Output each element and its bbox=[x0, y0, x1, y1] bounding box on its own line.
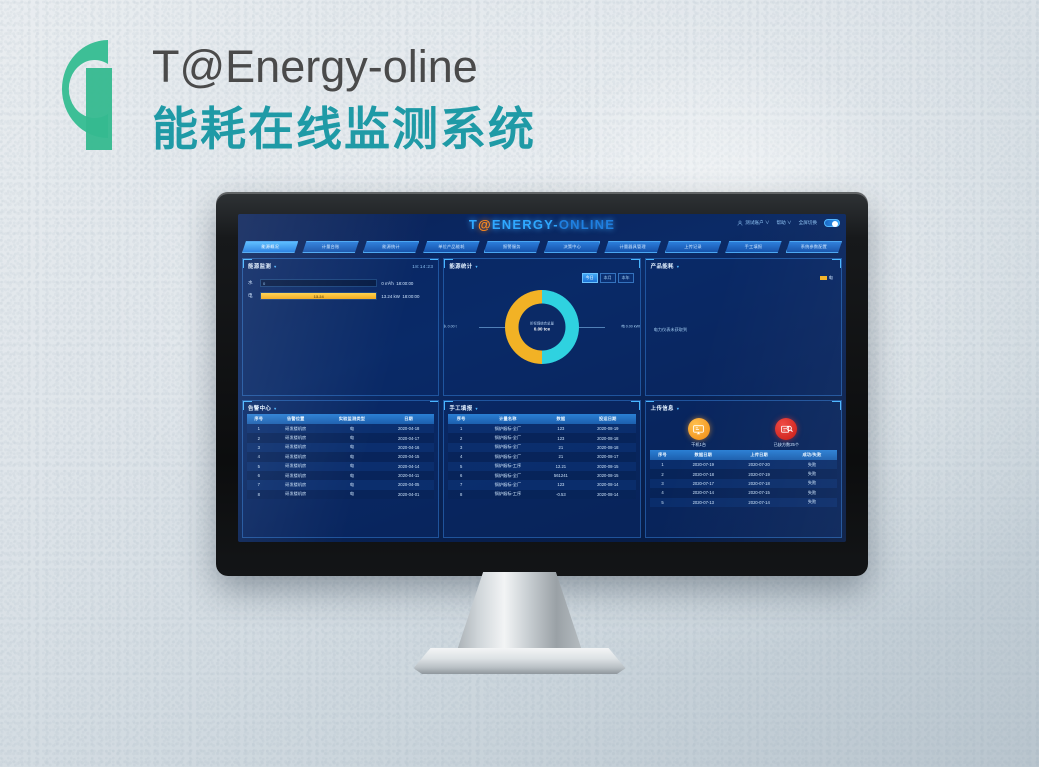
nav-item-3[interactable]: 单位产品能耗 bbox=[423, 241, 479, 253]
table-cell-3: 2020-08-14 bbox=[580, 480, 636, 489]
table-cell-3: 2020-04-17 bbox=[383, 433, 434, 442]
product-energy-header: 产品能耗 ▾ bbox=[646, 259, 841, 272]
table-cell-2: 561241 bbox=[542, 471, 580, 480]
table-cell-3: 2020-08-14 bbox=[580, 490, 636, 499]
table-cell-1: 2020-07-18 bbox=[675, 469, 731, 478]
table-cell-0: 1 bbox=[448, 424, 474, 433]
table-cell-0: 4 bbox=[448, 452, 474, 461]
donut-label-power: 电 0.00 kWh bbox=[621, 325, 640, 330]
table-cell-3: 2020-04-18 bbox=[383, 424, 434, 433]
table-cell-2: 电 bbox=[321, 462, 383, 471]
table-cell-3: 2020-04-15 bbox=[383, 452, 434, 461]
table-cell-2: 12.21 bbox=[542, 462, 580, 471]
legend-label-power: 电 bbox=[829, 275, 833, 281]
table-cell-0: 6 bbox=[448, 471, 474, 480]
nav-item-2[interactable]: 能源统计 bbox=[363, 241, 419, 253]
nav-item-6[interactable]: 计量器具管理 bbox=[604, 241, 660, 253]
table-cell-2: 电 bbox=[321, 443, 383, 452]
nav-item-8[interactable]: 手工填报 bbox=[725, 241, 781, 253]
table-row[interactable]: 7研发楼机房电2020-04-05 bbox=[247, 480, 434, 489]
upload-info-header: 上传信息 ▾ bbox=[646, 401, 841, 414]
monitor-icon bbox=[688, 418, 710, 440]
table-cell-2: 电 bbox=[321, 480, 383, 489]
col-index: 序号 bbox=[448, 414, 474, 424]
upload-info-tbody: 12020-07-192020-07-20失败22020-07-182020-0… bbox=[650, 460, 837, 507]
app-title-energy: ENERGY bbox=[492, 217, 553, 232]
donut-lead-right bbox=[579, 327, 605, 328]
table-cell-3: 2020-04-14 bbox=[383, 462, 434, 471]
table-cell-0: 2 bbox=[247, 433, 271, 442]
table-cell-2: -0.53 bbox=[542, 490, 580, 499]
table-row[interactable]: 4锅炉烟标-全厂212020-08-17 bbox=[448, 452, 635, 461]
energy-row-water-bar: 0 bbox=[260, 279, 377, 287]
table-cell-0: 1 bbox=[247, 424, 271, 433]
table-cell-0: 4 bbox=[650, 488, 676, 497]
table-header-row: 序号 数据日期 上传日期 成功/失败 bbox=[650, 450, 837, 460]
panel-manual-entry: 手工填报 ▾ 序号 计量名称 数据 投运日期 bbox=[443, 400, 640, 538]
dashboard-app: T@ENERGY-ONLINE 测试账户 ∨ 帮助 ∨ 全屏切换 bbox=[238, 214, 846, 542]
monitor-bezel: T@ENERGY-ONLINE 测试账户 ∨ 帮助 ∨ 全屏切换 bbox=[216, 192, 868, 576]
expand-icon[interactable]: ▾ bbox=[274, 406, 276, 411]
col-data-date: 数据日期 bbox=[675, 450, 731, 460]
table-cell-2: 2020-07-19 bbox=[731, 469, 787, 478]
table-header-row: 序号 计量名称 数据 投运日期 bbox=[448, 414, 635, 424]
col-index: 序号 bbox=[650, 450, 676, 460]
donut-center-label: 折标煤综合总量 0.00 tce bbox=[518, 304, 565, 351]
account-label: 测试账户 ∨ bbox=[745, 220, 769, 226]
table-row[interactable]: 52020-07-132020-07-14失败 bbox=[650, 498, 837, 507]
table-cell-0: 3 bbox=[650, 479, 676, 488]
table-cell-0: 3 bbox=[448, 443, 474, 452]
table-cell-3: 失败 bbox=[787, 460, 837, 469]
monitor: T@ENERGY-ONLINE 测试账户 ∨ 帮助 ∨ 全屏切换 bbox=[216, 192, 868, 576]
table-cell-0: 7 bbox=[247, 480, 271, 489]
table-row[interactable]: 22020-07-182020-07-19失败 bbox=[650, 469, 837, 478]
c-mark-logo-icon bbox=[46, 28, 124, 150]
poster-title-block: T@Energy-oline 能耗在线监测系统 bbox=[46, 20, 606, 160]
energy-row-power-label: 电 bbox=[248, 293, 256, 299]
alarm-center-table: 序号 告警位置 实验监测类型 日期 1研发楼机房电2020-04-182研发楼机… bbox=[247, 414, 434, 499]
product-energy-empty-note: 电力仪表未获取到 bbox=[654, 327, 688, 333]
table-row[interactable]: 1研发楼机房电2020-04-18 bbox=[247, 424, 434, 433]
col-date: 日期 bbox=[383, 414, 434, 424]
col-index: 序号 bbox=[247, 414, 271, 424]
table-row[interactable]: 2研发楼机房电2020-04-17 bbox=[247, 433, 434, 442]
alarm-center-table-wrap: 序号 告警位置 实验监测类型 日期 1研发楼机房电2020-04-182研发楼机… bbox=[243, 414, 438, 499]
poster-brand-en: T@Energy-oline bbox=[152, 44, 478, 89]
col-commission-date: 投运日期 bbox=[580, 414, 636, 424]
table-row[interactable]: 7锅炉烟标-全厂1232020-08-14 bbox=[448, 480, 635, 489]
energy-stats-donut-wrap: 折标煤综合总量 0.00 tce 水 0.00 t 电 0.00 kWh bbox=[444, 259, 639, 395]
table-cell-1: 研发楼机房 bbox=[271, 433, 321, 442]
panel-energy-monitor: 能源监测 ▾ 18:14:23 水 0 0 m³/h 18:00:00 bbox=[242, 258, 439, 396]
expand-icon[interactable]: ▾ bbox=[476, 406, 478, 411]
table-cell-3: 2020-08-15 bbox=[580, 462, 636, 471]
app-title-online: ONLINE bbox=[559, 217, 615, 232]
table-cell-3: 2020-04-05 bbox=[383, 480, 434, 489]
upload-info-stats: 干机1台 bbox=[646, 414, 841, 450]
energy-monitor-title: 能源监测 bbox=[248, 262, 271, 270]
manual-entry-tbody: 1锅炉烟标-全厂1232020-08-192锅炉烟标-全厂1232020-08-… bbox=[448, 424, 635, 499]
expand-icon[interactable]: ▾ bbox=[677, 264, 679, 269]
table-cell-1: 研发楼机房 bbox=[271, 452, 321, 461]
table-cell-0: 7 bbox=[448, 480, 474, 489]
table-cell-1: 锅炉烟标-全厂 bbox=[474, 433, 542, 442]
nav-item-1[interactable]: 计量台账 bbox=[302, 241, 358, 253]
fullscreen-toggle[interactable] bbox=[824, 219, 840, 227]
col-data: 数据 bbox=[542, 414, 580, 424]
energy-row-power: 电 13.24 13.24 kW 18:00:00 bbox=[248, 292, 433, 300]
table-cell-2: 电 bbox=[321, 424, 383, 433]
legend-swatch-power bbox=[820, 276, 827, 280]
main-nav: 能源概况 计量台账 能源统计 单位产品能耗 报警服务 决策中心 计量器具管理 上… bbox=[242, 240, 842, 254]
table-cell-0: 3 bbox=[247, 443, 271, 452]
monitor-stand-base bbox=[414, 648, 626, 674]
table-row[interactable]: 6锅炉烟标-全厂5612412020-08-15 bbox=[448, 471, 635, 480]
table-cell-1: 研发楼机房 bbox=[271, 471, 321, 480]
table-cell-3: 失败 bbox=[787, 488, 837, 497]
table-row[interactable]: 5锅炉烟标-工序12.212020-08-15 bbox=[448, 462, 635, 471]
upload-stat-terminals[interactable]: 干机1台 bbox=[688, 418, 710, 448]
document-search-icon bbox=[775, 418, 797, 440]
table-cell-3: 2020-08-15 bbox=[580, 471, 636, 480]
alarm-center-header: 告警中心 ▾ bbox=[243, 401, 438, 414]
table-cell-1: 研发楼机房 bbox=[271, 462, 321, 471]
table-cell-1: 2020-07-17 bbox=[675, 479, 731, 488]
energy-row-power-fill: 13.24 bbox=[261, 293, 376, 299]
manual-entry-table-wrap: 序号 计量名称 数据 投运日期 1锅炉烟标-全厂1232020-08-192锅炉… bbox=[444, 414, 639, 499]
panel-alarm-center: 告警中心 ▾ 序号 告警位置 实验监测类型 日期 bbox=[242, 400, 439, 538]
table-cell-1: 锅炉烟标-全厂 bbox=[474, 443, 542, 452]
table-cell-1: 锅炉烟标-全厂 bbox=[474, 471, 542, 480]
energy-donut-chart: 折标煤综合总量 0.00 tce 水 0.00 t 电 0.00 kWh bbox=[505, 290, 579, 364]
energy-monitor-clock: 18:14:23 bbox=[412, 264, 433, 269]
donut-label-water: 水 0.00 t bbox=[443, 325, 456, 330]
manual-entry-header: 手工填报 ▾ bbox=[444, 401, 639, 414]
upload-stat-terminals-label: 干机1台 bbox=[688, 442, 710, 448]
table-cell-2: 2020-07-20 bbox=[731, 460, 787, 469]
table-row[interactable]: 8锅炉烟标-工序-0.532020-08-14 bbox=[448, 490, 635, 499]
monitor-chin bbox=[216, 542, 868, 576]
upload-info-table: 序号 数据日期 上传日期 成功/失败 12020-07-192020-07-20… bbox=[650, 450, 837, 507]
table-cell-0: 5 bbox=[650, 498, 676, 507]
table-row[interactable]: 1锅炉烟标-全厂1232020-08-19 bbox=[448, 424, 635, 433]
monitor-stand-neck bbox=[455, 572, 585, 658]
col-location: 告警位置 bbox=[271, 414, 321, 424]
table-cell-3: 2020-08-18 bbox=[580, 433, 636, 442]
table-cell-1: 锅炉烟标-工序 bbox=[474, 462, 542, 471]
col-status: 成功/失败 bbox=[787, 450, 837, 460]
table-cell-2: 123 bbox=[542, 433, 580, 442]
donut-lead-left bbox=[479, 327, 505, 328]
table-cell-3: 2020-04-01 bbox=[383, 490, 434, 499]
table-cell-0: 5 bbox=[247, 462, 271, 471]
energy-row-water-label: 水 bbox=[248, 280, 256, 286]
table-cell-0: 2 bbox=[448, 433, 474, 442]
product-energy-title: 产品能耗 bbox=[651, 262, 674, 270]
energy-row-power-bar: 13.24 bbox=[260, 292, 377, 300]
table-cell-2: 21 bbox=[542, 452, 580, 461]
panel-upload-info: 上传信息 ▾ bbox=[645, 400, 842, 538]
table-cell-0: 4 bbox=[247, 452, 271, 461]
table-cell-2: 电 bbox=[321, 471, 383, 480]
alarm-center-title: 告警中心 bbox=[248, 404, 271, 412]
table-row[interactable]: 12020-07-192020-07-20失败 bbox=[650, 460, 837, 469]
energy-monitor-body: 水 0 0 m³/h 18:00:00 电 13.24 bbox=[243, 272, 438, 304]
table-cell-1: 锅炉烟标-工序 bbox=[474, 490, 542, 499]
energy-row-water-value: 0 bbox=[263, 281, 265, 286]
table-cell-2: 2020-07-18 bbox=[731, 479, 787, 488]
table-row[interactable]: 5研发楼机房电2020-04-14 bbox=[247, 462, 434, 471]
table-cell-2: 2020-07-14 bbox=[731, 498, 787, 507]
energy-monitor-header: 能源监测 ▾ 18:14:23 bbox=[243, 259, 438, 272]
user-icon bbox=[737, 220, 743, 226]
table-cell-1: 研发楼机房 bbox=[271, 443, 321, 452]
nav-item-4[interactable]: 报警服务 bbox=[484, 241, 540, 253]
table-row[interactable]: 8研发楼机房电2020-04-01 bbox=[247, 490, 434, 499]
table-cell-2: 21 bbox=[542, 443, 580, 452]
product-energy-legend: 电 bbox=[820, 275, 833, 281]
table-cell-3: 2020-08-19 bbox=[580, 424, 636, 433]
fullscreen-label: 全屏切换 bbox=[799, 220, 817, 226]
table-cell-3: 2020-04-11 bbox=[383, 471, 434, 480]
table-row[interactable]: 3锅炉烟标-全厂212020-08-18 bbox=[448, 443, 635, 452]
table-cell-3: 失败 bbox=[787, 479, 837, 488]
table-cell-1: 2020-07-14 bbox=[675, 488, 731, 497]
app-title-t: T bbox=[469, 217, 478, 232]
upload-stat-missing[interactable]: 已缺方数25个 bbox=[773, 418, 799, 448]
table-row[interactable]: 6研发楼机房电2020-04-11 bbox=[247, 471, 434, 480]
table-row[interactable]: 3研发楼机房电2020-04-16 bbox=[247, 443, 434, 452]
table-cell-1: 研发楼机房 bbox=[271, 490, 321, 499]
table-cell-0: 2 bbox=[650, 469, 676, 478]
table-cell-2: 2020-07-15 bbox=[731, 488, 787, 497]
app-header: T@ENERGY-ONLINE 测试账户 ∨ 帮助 ∨ 全屏切换 bbox=[238, 214, 846, 240]
table-cell-3: 2020-08-17 bbox=[580, 452, 636, 461]
dashboard-grid: 能源监测 ▾ 18:14:23 水 0 0 m³/h 18:00:00 bbox=[242, 258, 842, 538]
col-type: 实验监测类型 bbox=[321, 414, 383, 424]
table-cell-2: 电 bbox=[321, 452, 383, 461]
table-row[interactable]: 2锅炉烟标-全厂1232020-08-18 bbox=[448, 433, 635, 442]
energy-row-water-readout: 0 m³/h 18:00:00 bbox=[381, 281, 433, 286]
table-cell-1: 研发楼机房 bbox=[271, 424, 321, 433]
table-row[interactable]: 32020-07-172020-07-18失败 bbox=[650, 479, 837, 488]
col-upload-date: 上传日期 bbox=[731, 450, 787, 460]
help-menu[interactable]: 帮助 ∨ bbox=[777, 220, 792, 226]
upload-info-title: 上传信息 bbox=[651, 404, 674, 412]
nav-item-5[interactable]: 决策中心 bbox=[544, 241, 600, 253]
donut-center-value: 0.00 tce bbox=[534, 326, 550, 332]
manual-entry-title: 手工填报 bbox=[449, 404, 472, 412]
table-cell-3: 2020-04-16 bbox=[383, 443, 434, 452]
manual-entry-table: 序号 计量名称 数据 投运日期 1锅炉烟标-全厂1232020-08-192锅炉… bbox=[448, 414, 635, 499]
expand-icon[interactable]: ▾ bbox=[677, 406, 679, 411]
table-cell-3: 失败 bbox=[787, 498, 837, 507]
table-cell-0: 6 bbox=[247, 471, 271, 480]
table-cell-1: 锅炉烟标-全厂 bbox=[474, 480, 542, 489]
table-cell-2: 电 bbox=[321, 490, 383, 499]
upload-info-table-wrap: 序号 数据日期 上传日期 成功/失败 12020-07-192020-07-20… bbox=[646, 450, 841, 507]
header-right-controls: 测试账户 ∨ 帮助 ∨ 全屏切换 bbox=[737, 219, 840, 227]
table-cell-0: 5 bbox=[448, 462, 474, 471]
nav-item-7[interactable]: 上传记录 bbox=[665, 241, 721, 253]
account-menu[interactable]: 测试账户 ∨ bbox=[737, 220, 769, 226]
table-cell-2: 123 bbox=[542, 480, 580, 489]
app-title-at: @ bbox=[478, 217, 492, 232]
table-cell-3: 失败 bbox=[787, 469, 837, 478]
energy-row-power-readout: 13.24 kW 18:00:00 bbox=[381, 294, 433, 299]
panel-energy-statistics: 能源统计 ▾ 今日 本月 本年 折标煤综合总量 bbox=[443, 258, 640, 396]
poster-brand-cn: 能耗在线监测系统 bbox=[152, 106, 536, 152]
expand-icon[interactable]: ▾ bbox=[274, 264, 276, 269]
table-cell-2: 电 bbox=[321, 433, 383, 442]
monitor-screen: T@ENERGY-ONLINE 测试账户 ∨ 帮助 ∨ 全屏切换 bbox=[238, 214, 846, 542]
upload-stat-missing-label: 已缺方数25个 bbox=[773, 442, 799, 448]
table-cell-1: 研发楼机房 bbox=[271, 480, 321, 489]
table-cell-1: 2020-07-13 bbox=[675, 498, 731, 507]
nav-item-0[interactable]: 能源概况 bbox=[242, 241, 298, 253]
alarm-center-tbody: 1研发楼机房电2020-04-182研发楼机房电2020-04-173研发楼机房… bbox=[247, 424, 434, 499]
table-row[interactable]: 42020-07-142020-07-15失败 bbox=[650, 488, 837, 497]
table-cell-0: 1 bbox=[650, 460, 676, 469]
table-cell-2: 123 bbox=[542, 424, 580, 433]
table-row[interactable]: 4研发楼机房电2020-04-15 bbox=[247, 452, 434, 461]
app-title: T@ENERGY-ONLINE bbox=[469, 217, 615, 232]
nav-item-9[interactable]: 系统参数配置 bbox=[786, 241, 842, 253]
panel-product-energy: 产品能耗 ▾ 电 电力仪表未获取到 bbox=[645, 258, 842, 396]
table-cell-1: 锅炉烟标-全厂 bbox=[474, 424, 542, 433]
table-cell-1: 2020-07-19 bbox=[675, 460, 731, 469]
table-cell-0: 8 bbox=[247, 490, 271, 499]
table-cell-1: 锅炉烟标-全厂 bbox=[474, 452, 542, 461]
table-header-row: 序号 告警位置 实验监测类型 日期 bbox=[247, 414, 434, 424]
energy-row-water: 水 0 0 m³/h 18:00:00 bbox=[248, 279, 433, 287]
col-meter-name: 计量名称 bbox=[474, 414, 542, 424]
table-cell-3: 2020-08-18 bbox=[580, 443, 636, 452]
table-cell-0: 8 bbox=[448, 490, 474, 499]
